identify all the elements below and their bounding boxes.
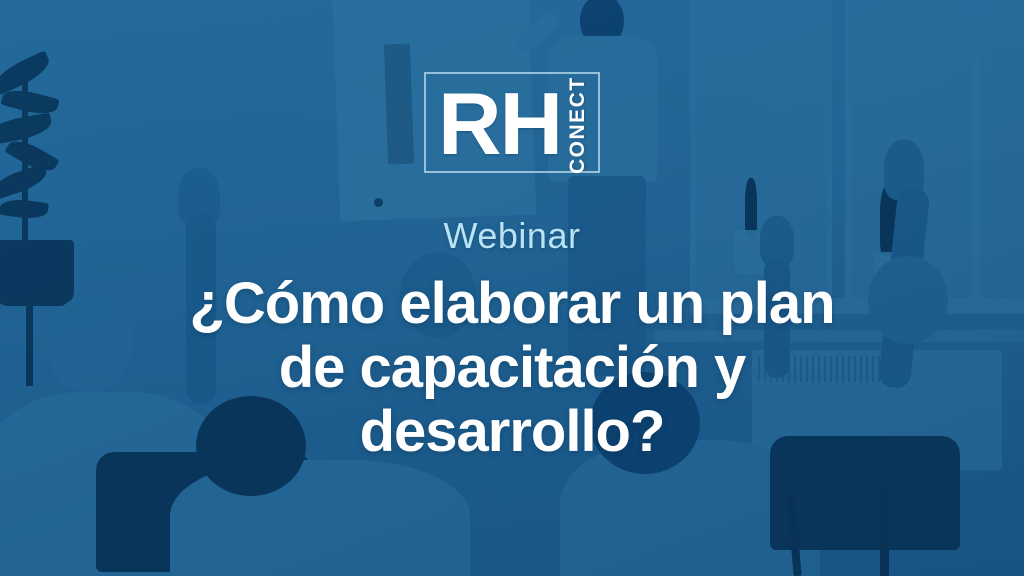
title-line-2: de capacitación y: [0, 336, 1024, 400]
title-line-1: ¿Cómo elaborar un plan: [0, 272, 1024, 336]
title-line-3: desarrollo?: [0, 400, 1024, 464]
webinar-slide: RH CONECT Webinar ¿Cómo elaborar un plan…: [0, 0, 1024, 576]
rh-conect-logo: RH CONECT: [424, 72, 600, 173]
logo-rh-mark: RH: [438, 80, 561, 168]
page-title: ¿Cómo elaborar un plan de capacitación y…: [0, 272, 1024, 464]
kicker-label: Webinar: [0, 215, 1024, 257]
logo-wordmark: CONECT: [566, 86, 590, 164]
slide-content: RH CONECT Webinar ¿Cómo elaborar un plan…: [0, 0, 1024, 576]
